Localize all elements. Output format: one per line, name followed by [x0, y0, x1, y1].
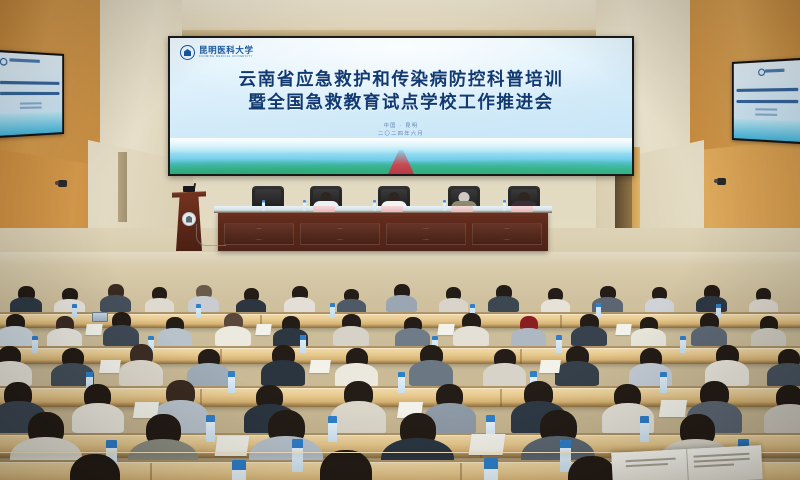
nameplate-2 — [381, 206, 403, 212]
bottle — [300, 335, 306, 353]
main-projection-screen: 昆明医科大学 KUNMING MEDICAL UNIVERSITY 云南省应急救… — [168, 36, 634, 176]
bottle — [32, 336, 38, 353]
side-left-title-line2 — [0, 92, 60, 95]
bottle — [196, 304, 201, 318]
bottle — [292, 439, 303, 472]
head-table-panel-1 — [224, 223, 294, 245]
bottle — [640, 416, 649, 442]
side-right-subtitle-2 — [755, 113, 777, 116]
banner-title: 云南省应急救护和传染病防控科普培训 暨全国急救教育试点学校工作推进会 — [170, 68, 632, 114]
side-left-subtitle-2 — [20, 107, 41, 110]
banner-location: 中国 · 昆明 — [170, 122, 632, 130]
bottle — [330, 303, 335, 318]
side-screen-left — [0, 50, 64, 138]
university-name-en: KUNMING MEDICAL UNIVERSITY — [199, 56, 254, 59]
side-left-crest-icon — [0, 57, 7, 65]
nameplate-3 — [451, 206, 473, 212]
head-table-panel-3 — [386, 223, 466, 245]
landscape-haze — [170, 138, 632, 154]
banner-date: 二〇二四年六月 — [170, 130, 632, 138]
bottle — [206, 415, 215, 442]
banner-campus-landscape — [170, 138, 632, 174]
table-bottle-2 — [303, 200, 306, 211]
bottle — [556, 335, 562, 353]
main-screen-surface: 昆明医科大学 KUNMING MEDICAL UNIVERSITY 云南省应急救… — [170, 38, 632, 174]
side-right-logo-text — [765, 69, 784, 73]
table-bottle-3 — [373, 200, 376, 211]
side-right-landscape — [734, 119, 800, 142]
nameplate-4 — [511, 206, 533, 212]
table-bottle-1 — [262, 200, 265, 211]
head-table — [218, 211, 548, 251]
side-left-landscape — [0, 112, 62, 136]
wall-camera-left — [58, 180, 67, 187]
side-left-title-line1 — [0, 81, 60, 85]
side-right-title-line1 — [736, 88, 798, 92]
table-bottle-4 — [443, 200, 446, 211]
university-crest-icon — [180, 45, 195, 60]
side-screen-right-surface — [734, 60, 800, 142]
side-screen-right — [732, 58, 800, 145]
side-right-subtitle-1 — [755, 109, 777, 111]
bottle — [398, 372, 405, 393]
bottle — [680, 336, 686, 353]
side-door-left — [118, 152, 127, 222]
banner-title-line2: 暨全国急救教育试点学校工作推进会 — [170, 91, 632, 114]
university-name-cn: 昆明医科大学 — [199, 46, 254, 55]
podium-cable — [196, 224, 226, 246]
university-logo: 昆明医科大学 KUNMING MEDICAL UNIVERSITY — [180, 45, 254, 60]
wall-camera-right — [717, 178, 726, 185]
podium-crest-icon — [182, 212, 196, 226]
auditorium-photo: 昆明医科大学 KUNMING MEDICAL UNIVERSITY 云南省应急救… — [0, 0, 800, 480]
banner-subtitle: 中国 · 昆明 二〇二四年六月 — [170, 122, 632, 138]
audience-area — [0, 264, 800, 480]
head-table-panel-2 — [300, 223, 380, 245]
side-screen-left-surface — [0, 52, 62, 136]
bottle — [228, 371, 235, 393]
nameplate-1 — [313, 206, 335, 212]
side-right-title-line2 — [736, 99, 798, 102]
head-table-panel-4 — [472, 223, 542, 245]
side-left-subtitle-1 — [20, 102, 41, 104]
bottle — [660, 372, 667, 393]
banner-title-line1: 云南省应急救护和传染病防控科普培训 — [170, 68, 632, 91]
table-bottle-5 — [503, 200, 506, 211]
bottle — [72, 304, 77, 318]
bottle — [328, 416, 337, 442]
bottle — [484, 458, 498, 480]
bottle — [232, 460, 246, 480]
side-left-logo-text — [9, 59, 40, 64]
